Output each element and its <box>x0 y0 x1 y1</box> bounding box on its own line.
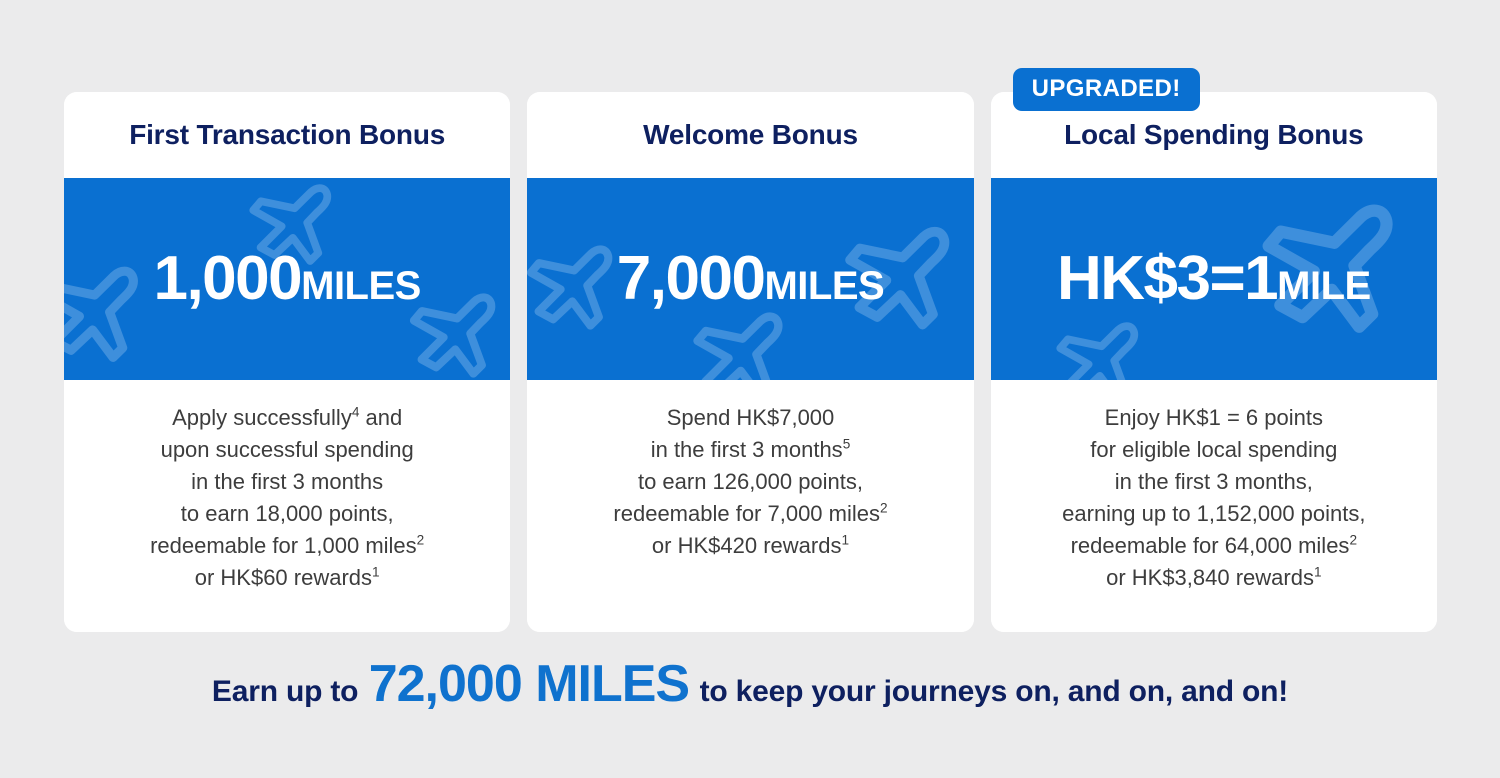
bonus-cards-row: First Transaction Bonus 1,000 MILE <box>64 92 1437 632</box>
card-body: Apply successfully4 andupon successful s… <box>64 380 510 632</box>
headline-amount: 1,000 <box>153 248 301 310</box>
banner-headline: HK$3=1 MILE <box>1057 248 1371 310</box>
tagline-tail: to keep your journeys on, and on, and on… <box>700 675 1289 708</box>
card-description: Spend HK$7,000in the first 3 months5to e… <box>545 402 955 562</box>
bonus-card-first-transaction[interactable]: First Transaction Bonus 1,000 MILE <box>64 92 510 632</box>
card-description: Apply successfully4 andupon successful s… <box>82 402 492 594</box>
bonus-card-welcome[interactable]: Welcome Bonus 7,000 MILES <box>527 92 973 632</box>
card-header: First Transaction Bonus <box>64 92 510 178</box>
headline-unit: MILE <box>1277 266 1371 306</box>
headline-amount: 7,000 <box>617 248 765 310</box>
card-banner: 1,000 MILES <box>64 178 510 380</box>
status-badge-upgraded: UPGRADED! <box>1013 68 1200 111</box>
headline-unit: MILES <box>301 266 421 306</box>
card-description: Enjoy HK$1 = 6 pointsfor eligible local … <box>1009 402 1419 594</box>
airplane-outline-icon <box>64 238 164 368</box>
bonus-card-local-spending[interactable]: UPGRADED! Local Spending Bonus HK$3=1 MI… <box>991 92 1437 632</box>
card-banner: 7,000 MILES <box>527 178 973 380</box>
card-body: Spend HK$7,000in the first 3 months5to e… <box>527 380 973 632</box>
headline-unit: MILES <box>764 266 884 306</box>
card-title: Local Spending Bonus <box>1064 121 1363 149</box>
card-title: Welcome Bonus <box>643 121 858 149</box>
headline-amount: HK$3=1 <box>1057 248 1277 310</box>
card-header: Welcome Bonus <box>527 92 973 178</box>
card-body: Enjoy HK$1 = 6 pointsfor eligible local … <box>991 380 1437 632</box>
banner-headline: 7,000 MILES <box>617 248 884 310</box>
banner-headline: 1,000 MILES <box>153 248 420 310</box>
promo-tagline: Earn up to 72,000 MILES to keep your jou… <box>0 658 1500 710</box>
card-title: First Transaction Bonus <box>129 121 445 149</box>
card-banner: HK$3=1 MILE <box>991 178 1437 380</box>
tagline-highlight: 72,000 MILES <box>369 655 689 713</box>
tagline-lead: Earn up to <box>212 675 358 708</box>
promo-banner: First Transaction Bonus 1,000 MILE <box>0 0 1500 778</box>
